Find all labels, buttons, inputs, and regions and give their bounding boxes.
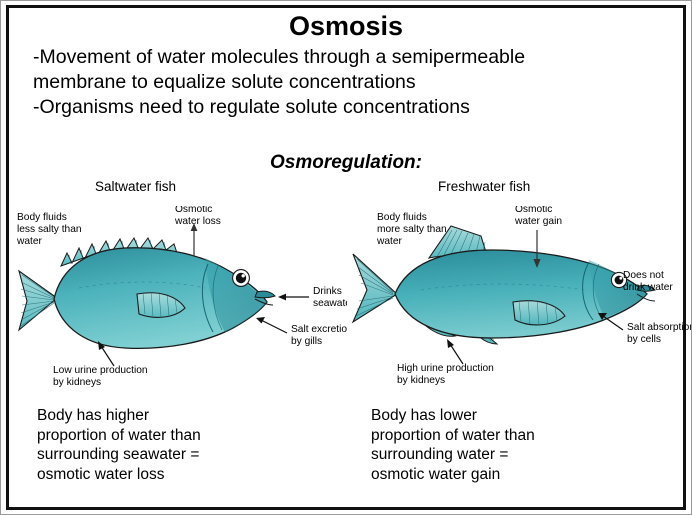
mouth-leader-head — [278, 294, 286, 301]
label-line: water loss — [174, 216, 221, 227]
eye-highlight — [242, 274, 245, 277]
label-line: Does not — [623, 270, 664, 281]
saltwater-label-osmotic-water-loss: Osmotic water loss — [174, 206, 221, 227]
bullet-line-1: -Movement of water molecules through a s… — [33, 45, 653, 70]
summary-line: surrounding seawater = — [37, 445, 327, 465]
label-line: Drinks — [313, 286, 342, 297]
summary-line: osmotic water loss — [37, 465, 327, 485]
freshwater-label-does-not-drink: Does not drink water — [623, 270, 673, 293]
freshwater-label-high-urine: High urine production by kidneys — [397, 363, 494, 386]
label-line: Body fluids — [17, 212, 67, 223]
freshwater-summary: Body has lower proportion of water than … — [371, 406, 671, 484]
label-line: drink water — [623, 282, 673, 293]
kidney-leader-shaft — [101, 346, 114, 366]
label-line: by kidneys — [397, 375, 445, 386]
bullet-line-2: membrane to equalize solute concentratio… — [33, 70, 653, 95]
mouth — [255, 291, 275, 297]
freshwater-fish-heading: Freshwater fish — [438, 179, 530, 194]
label-line: Osmotic — [175, 206, 212, 215]
saltwater-fish-illustration — [19, 223, 309, 366]
gills-leader-shaft — [261, 320, 287, 333]
label-line: less salty than — [17, 224, 82, 235]
cells-leader-shaft — [603, 316, 623, 330]
label-line: water — [16, 236, 43, 247]
freshwater-label-osmotic-water-gain: Osmotic water gain — [514, 206, 562, 227]
eye-highlight — [619, 277, 622, 280]
saltwater-summary: Body has higher proportion of water than… — [37, 406, 327, 484]
eye-pupil — [236, 273, 246, 283]
label-line: Salt excretion — [291, 324, 347, 335]
label-line: by cells — [627, 334, 661, 345]
summary-line: proportion of water than — [371, 426, 671, 446]
freshwater-fish-diagram: Body fluids more salty than water Osmoti… — [351, 206, 691, 391]
label-line: water — [376, 236, 403, 247]
osmosis-slide: Osmosis -Movement of water molecules thr… — [0, 0, 692, 515]
label-line: water gain — [514, 216, 562, 227]
label-line: Body fluids — [377, 212, 427, 223]
summary-line: surrounding water = — [371, 445, 671, 465]
section-heading-osmoregulation: Osmoregulation: — [1, 152, 691, 174]
label-line: more salty than — [377, 224, 447, 235]
label-line: by gills — [291, 336, 322, 347]
bullet-line-3: -Organisms need to regulate solute conce… — [33, 95, 653, 120]
kidney-leader-head — [447, 339, 454, 348]
saltwater-fish-diagram: Body fluids less salty than water Osmoti… — [9, 206, 347, 391]
saltwater-fish-heading: Saltwater fish — [95, 179, 176, 194]
label-line: seawater — [313, 298, 347, 309]
label-line: by kidneys — [53, 377, 101, 388]
gills-leader-head — [256, 317, 265, 324]
summary-line: Body has higher — [37, 406, 327, 426]
definition-bullets: -Movement of water molecules through a s… — [33, 45, 653, 120]
summary-line: osmotic water gain — [371, 465, 671, 485]
caudal-fin — [19, 271, 57, 330]
label-line: Low urine production — [53, 365, 148, 376]
saltwater-label-body-fluids: Body fluids less salty than water — [16, 212, 82, 247]
summary-line: Body has lower — [371, 406, 671, 426]
saltwater-label-salt-excretion: Salt excretion by gills — [291, 324, 347, 347]
label-line: Salt absorption — [627, 322, 691, 333]
kidney-leader-shaft — [450, 344, 463, 364]
freshwater-label-body-fluids: Body fluids more salty than water — [376, 212, 447, 247]
saltwater-label-low-urine: Low urine production by kidneys — [53, 365, 148, 388]
saltwater-label-drinks-seawater: Drinks seawater — [313, 286, 347, 309]
label-line: High urine production — [397, 363, 494, 374]
label-line: Osmotic — [515, 206, 552, 215]
freshwater-label-salt-absorption: Salt absorption by cells — [627, 322, 691, 345]
summary-line: proportion of water than — [37, 426, 327, 446]
page-title: Osmosis — [1, 11, 691, 42]
